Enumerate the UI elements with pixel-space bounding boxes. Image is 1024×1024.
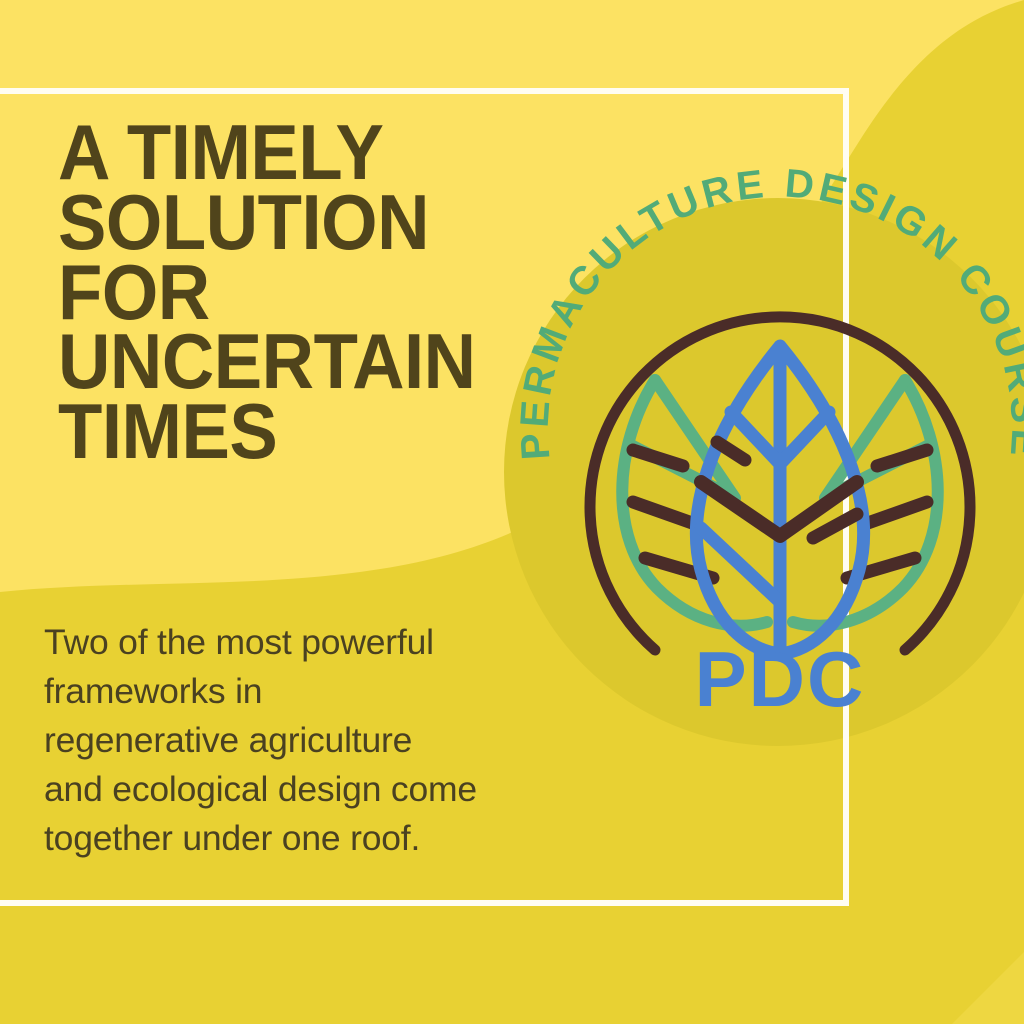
brown-dash-icon (633, 450, 683, 466)
body-paragraph: Two of the most powerful frameworks in r… (44, 618, 584, 863)
brown-dash-icon (877, 450, 927, 466)
brown-chevron-upper (717, 442, 745, 460)
brown-chevron-lower-right (813, 514, 857, 538)
logo-acronym: PDC (695, 635, 866, 723)
poster-canvas: A TIMELY SOLUTION FOR UNCERTAIN TIMES Tw… (0, 0, 1024, 1024)
brown-dash-icon (865, 502, 927, 524)
brown-dash-icon (633, 502, 695, 524)
pdc-logo-svg: PERMACULTURE DESIGN COURSE (505, 198, 1024, 748)
page-title: A TIMELY SOLUTION FOR UNCERTAIN TIMES (58, 118, 495, 467)
pdc-logo-badge: PERMACULTURE DESIGN COURSE (505, 198, 1024, 748)
